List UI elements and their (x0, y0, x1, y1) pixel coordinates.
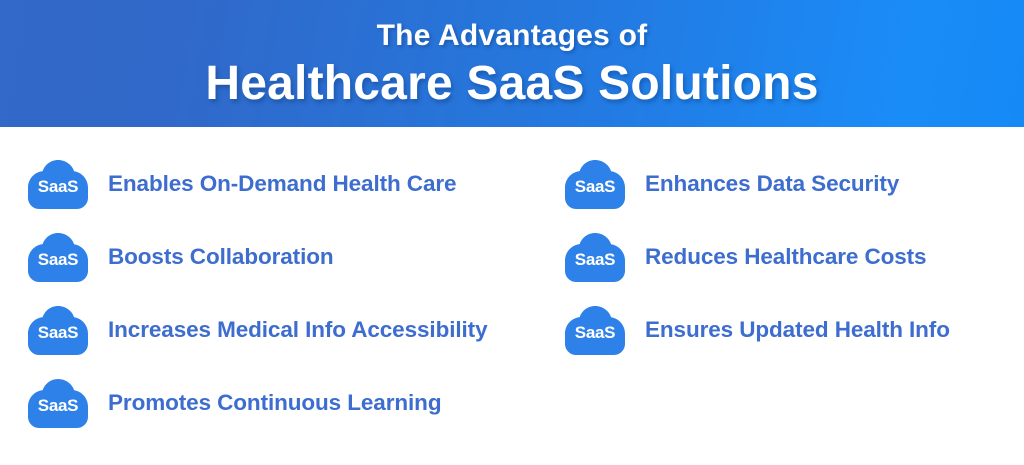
benefits-column-right: SaaS Enhances Data Security SaaS Reduces… (561, 127, 1021, 375)
benefits-body: SaaS Enables On-Demand Health Care SaaS … (0, 127, 1024, 465)
saas-cloud-icon: SaaS (24, 304, 92, 356)
saas-cloud-icon: SaaS (24, 231, 92, 283)
list-item-label: Reduces Healthcare Costs (645, 244, 926, 270)
infographic-root: The Advantages of Healthcare SaaS Soluti… (0, 0, 1024, 465)
list-item-label: Boosts Collaboration (108, 244, 334, 270)
list-item-label: Increases Medical Info Accessibility (108, 317, 487, 343)
saas-cloud-icon: SaaS (561, 231, 629, 283)
list-item: SaaS Enhances Data Security (561, 156, 1021, 212)
list-item-label: Enables On-Demand Health Care (108, 171, 456, 197)
benefits-column-left: SaaS Enables On-Demand Health Care SaaS … (24, 127, 564, 448)
list-item-label: Enhances Data Security (645, 171, 899, 197)
page-title: Healthcare SaaS Solutions (205, 58, 818, 111)
list-item: SaaS Boosts Collaboration (24, 229, 564, 285)
list-item: SaaS Promotes Continuous Learning (24, 375, 564, 431)
list-item: SaaS Reduces Healthcare Costs (561, 229, 1021, 285)
saas-cloud-icon: SaaS (561, 304, 629, 356)
list-item-label: Promotes Continuous Learning (108, 390, 441, 416)
list-item: SaaS Increases Medical Info Accessibilit… (24, 302, 564, 358)
header-eyebrow: The Advantages of (377, 20, 648, 52)
header-banner: The Advantages of Healthcare SaaS Soluti… (0, 0, 1024, 127)
saas-cloud-icon: SaaS (24, 158, 92, 210)
list-item: SaaS Enables On-Demand Health Care (24, 156, 564, 212)
list-item-label: Ensures Updated Health Info (645, 317, 950, 343)
saas-cloud-icon: SaaS (24, 377, 92, 429)
list-item: SaaS Ensures Updated Health Info (561, 302, 1021, 358)
saas-cloud-icon: SaaS (561, 158, 629, 210)
